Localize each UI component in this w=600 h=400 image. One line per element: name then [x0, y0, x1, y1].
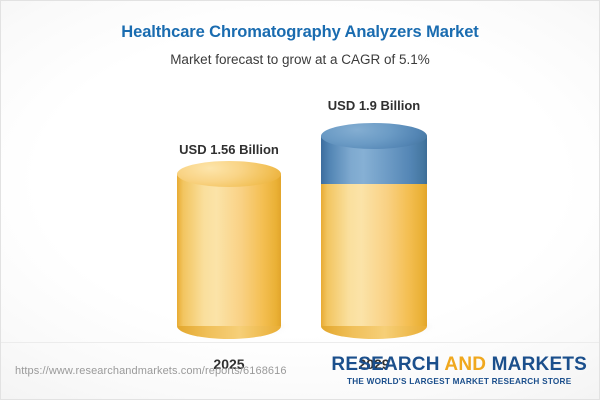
cylinder-body — [321, 184, 427, 326]
logo-word-research: RESEARCH — [331, 354, 444, 375]
logo-tagline: THE WORLD'S LARGEST MARKET RESEARCH STOR… — [331, 375, 587, 387]
bar-segment-base-2029 — [321, 184, 427, 326]
research-and-markets-logo[interactable]: RESEARCH AND MARKETS THE WORLD'S LARGEST… — [331, 354, 587, 387]
cylinder-top-cap — [177, 161, 281, 187]
logo-word-markets: MARKETS — [486, 354, 587, 375]
cylinder-2029[interactable] — [321, 136, 427, 326]
chart-subtitle: Market forecast to grow at a CAGR of 5.1… — [1, 42, 599, 69]
chart-header: Healthcare Chromatography Analyzers Mark… — [1, 1, 599, 69]
chart-title: Healthcare Chromatography Analyzers Mark… — [1, 22, 599, 42]
report-url[interactable]: https://www.researchandmarkets.com/repor… — [15, 365, 287, 377]
cylinder-top-cap — [321, 123, 427, 149]
bar-segment-base-2025 — [177, 174, 281, 326]
bar-segment-growth-2029 — [321, 136, 427, 184]
chart-card: Healthcare Chromatography Analyzers Mark… — [0, 0, 600, 400]
cylinder-body — [177, 174, 281, 326]
cylinder-2025[interactable] — [177, 174, 281, 326]
logo-wordmark: RESEARCH AND MARKETS — [331, 354, 587, 375]
bar-value-label-2025: USD 1.56 Billion — [179, 142, 279, 157]
chart-footer: https://www.researchandmarkets.com/repor… — [1, 342, 599, 399]
chart-plot-area: USD 1.56 Billion 2025 USD 1.9 Billion — [1, 86, 599, 341]
bar-value-label-2029: USD 1.9 Billion — [328, 98, 420, 113]
logo-word-and: AND — [444, 354, 486, 375]
